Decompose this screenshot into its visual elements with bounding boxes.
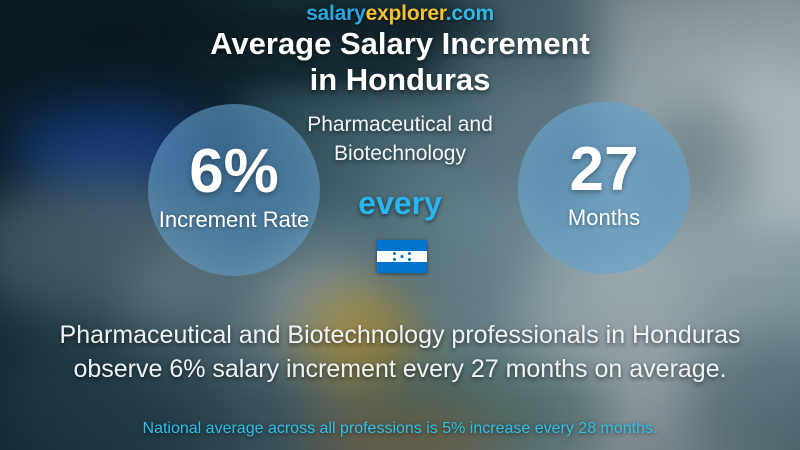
logo-text-explorer: explorer bbox=[366, 2, 446, 25]
infographic-canvas: salaryexplorer.com Average Salary Increm… bbox=[0, 0, 800, 450]
increment-rate-label: Increment Rate bbox=[159, 207, 309, 233]
job-category-subtitle: Pharmaceutical and Biotechnology bbox=[300, 110, 500, 168]
increment-rate-value: 6% bbox=[189, 141, 279, 203]
logo-text-salary: salary bbox=[306, 2, 366, 25]
increment-frequency-circle: 27 Months bbox=[518, 102, 690, 274]
site-logo[interactable]: salaryexplorer.com bbox=[0, 2, 800, 26]
increment-frequency-label: Months bbox=[568, 205, 640, 231]
honduras-flag-icon bbox=[377, 240, 427, 273]
increment-frequency-value: 27 bbox=[570, 139, 639, 201]
page-title: Average Salary Increment in Honduras bbox=[0, 26, 800, 98]
logo-text-domain: .com bbox=[446, 2, 494, 25]
connector-label-every: every bbox=[300, 186, 500, 220]
increment-rate-circle: 6% Increment Rate bbox=[148, 104, 320, 276]
national-average-footnote: National average across all professions … bbox=[20, 419, 780, 439]
page-title-line-1: Average Salary Increment bbox=[0, 26, 800, 62]
summary-description: Pharmaceutical and Biotechnology profess… bbox=[20, 318, 780, 386]
infographic-content: salaryexplorer.com Average Salary Increm… bbox=[0, 0, 800, 450]
page-title-line-2: in Honduras bbox=[0, 62, 800, 98]
